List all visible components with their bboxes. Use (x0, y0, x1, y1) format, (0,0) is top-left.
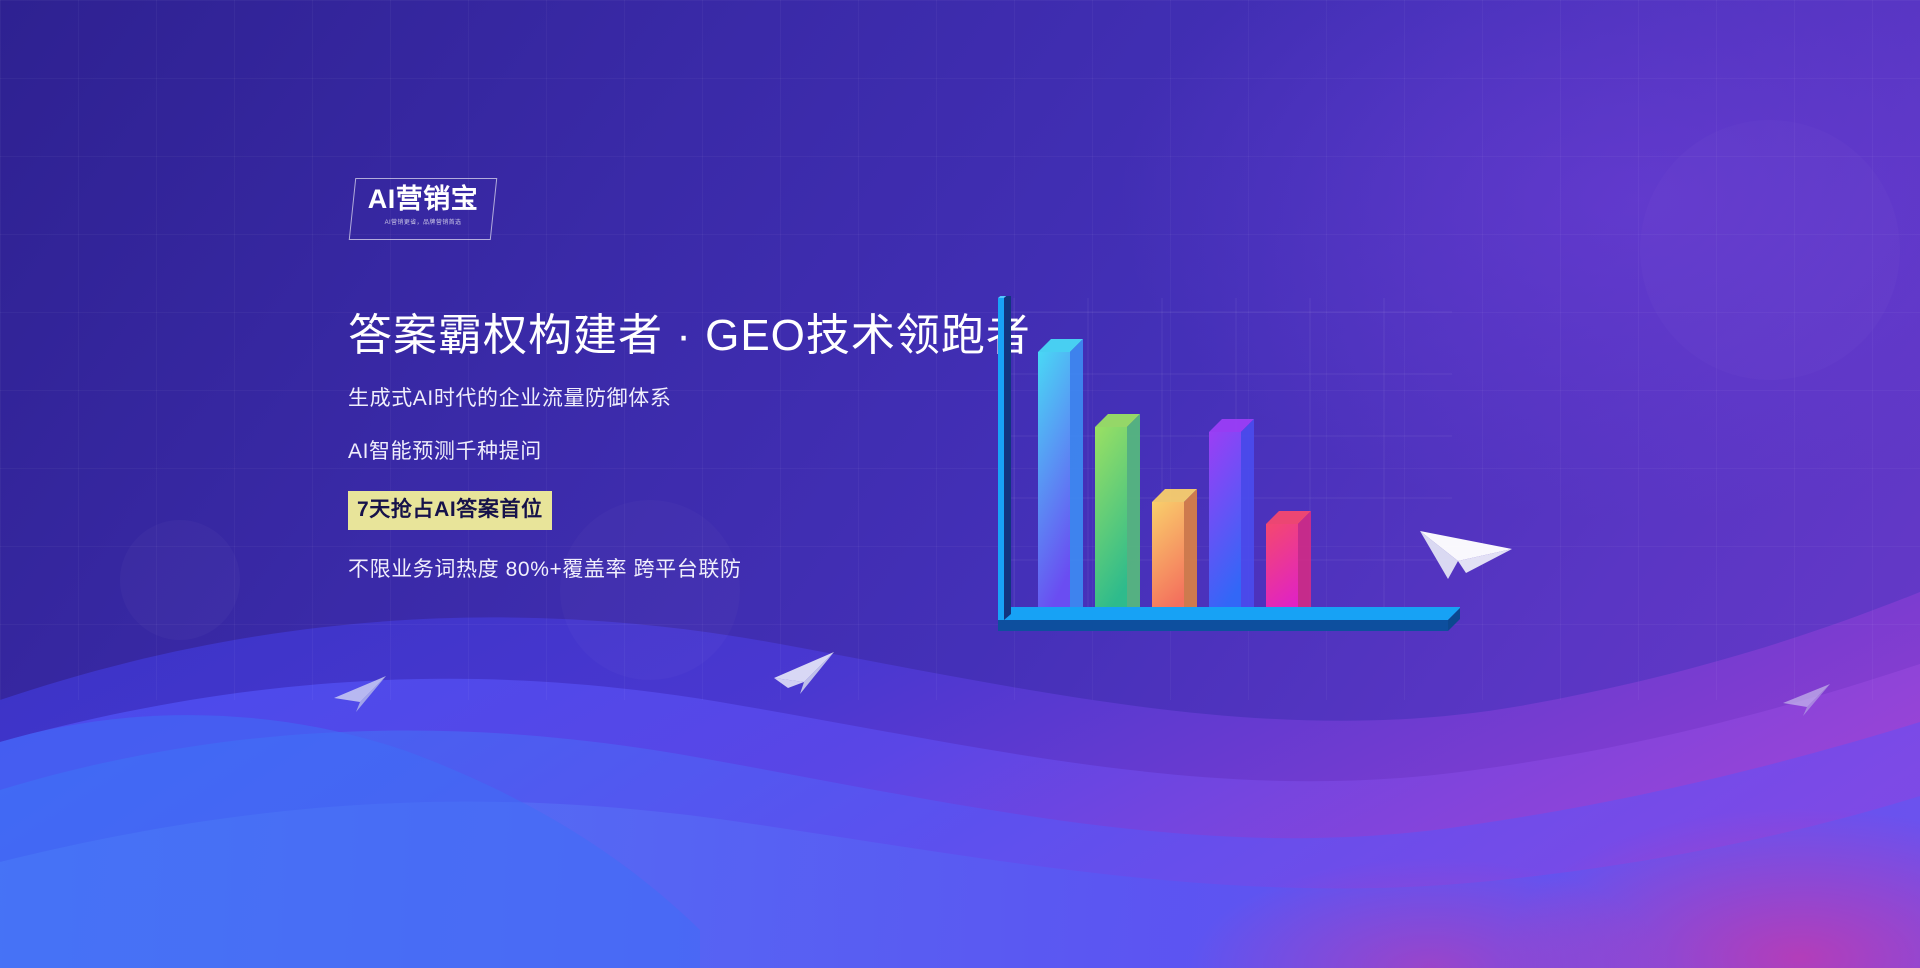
chart-bar (1038, 339, 1083, 620)
chart-bar (1209, 419, 1254, 620)
chart-bar (1266, 511, 1311, 620)
chart-bar (1152, 489, 1197, 620)
paper-plane-icon (770, 648, 836, 698)
paper-plane-icon (1780, 680, 1832, 720)
bar-chart-illustration (980, 296, 1460, 666)
logo-wordmark: AI营销宝 (352, 186, 494, 213)
highlight-badge: 7天抢占AI答案首位 (348, 491, 552, 529)
hero-banner: AI营销宝 AI营销更省，品牌营销首选 答案霸权构建者 · GEO技术领跑者 生… (0, 0, 1920, 968)
chart-bars (1038, 339, 1311, 620)
decor-circle (1640, 120, 1900, 380)
paper-plane-icon (330, 672, 388, 716)
chart-bar (1095, 414, 1140, 620)
decor-circle (120, 520, 240, 640)
brand-logo[interactable]: AI营销宝 AI营销更省，品牌营销首选 (352, 178, 494, 240)
logo-tagline: AI营销更省，品牌营销首选 (352, 220, 494, 226)
